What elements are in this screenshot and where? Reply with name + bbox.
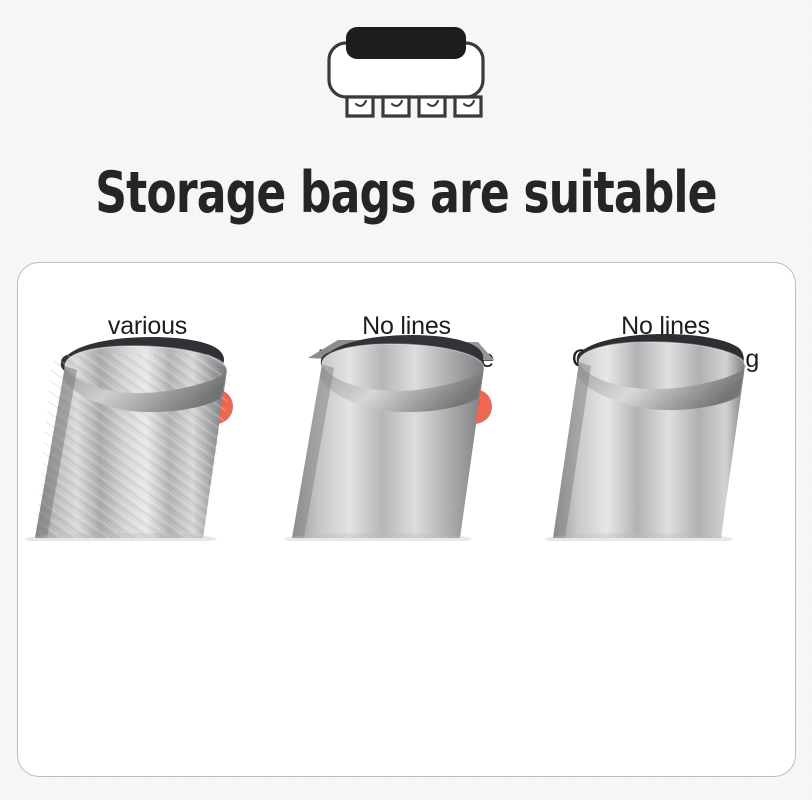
column-flat-bag: No lines Common flat bag Do not seal No … [536, 263, 795, 535]
column-pattern-bag: various Pattern bag But the sealing line… [18, 263, 277, 535]
comparison-card: various Pattern bag But the sealing line… [17, 262, 796, 777]
bag-illustration-textured [21, 306, 273, 541]
column-angle-bag: No lines There are Angle But the sealing… [277, 263, 536, 535]
bag-illustration-gusseted [280, 306, 532, 541]
bag-illustration-flat [539, 306, 791, 541]
vacuum-sealer-device-icon [316, 22, 496, 123]
columns-container: various Pattern bag But the sealing line… [18, 263, 795, 535]
page-title: Storage bags are suitable [57, 160, 755, 226]
device-icon-container [0, 22, 812, 123]
